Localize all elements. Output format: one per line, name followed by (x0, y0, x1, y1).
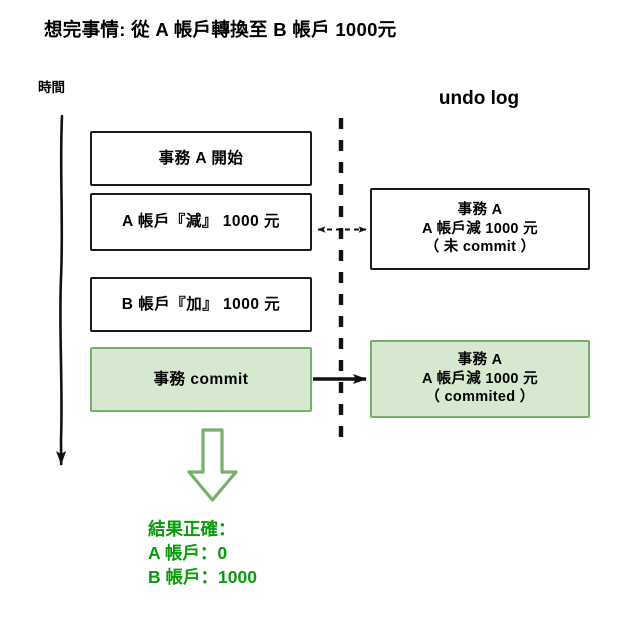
timeline-box-transaction-start: 事務 A 開始 (90, 131, 312, 186)
timeline-box-label: 事務 commit (154, 370, 249, 390)
undo-log-line-status: （ commited ） (425, 388, 534, 407)
timeline-box-account-a-debit: A 帳戶『減』 1000 元 (90, 193, 312, 251)
undo-log-line-transaction: 事務 A (458, 351, 503, 370)
timeline-box-account-b-credit: B 帳戶『加』 1000 元 (90, 277, 312, 332)
timeline-box-label: A 帳戶『減』 1000 元 (122, 212, 280, 232)
diagram-canvas: 想完事情: 從 A 帳戶轉換至 B 帳戶 1000元 時間 undo log 事… (0, 0, 641, 621)
undo-log-line-transaction: 事務 A (458, 201, 503, 220)
undo-log-box-committed: 事務 A A 帳戶減 1000 元 （ commited ） (370, 340, 590, 418)
undo-log-line-operation: A 帳戶減 1000 元 (422, 220, 538, 239)
page-title: 想完事情: 從 A 帳戶轉換至 B 帳戶 1000元 (44, 16, 397, 42)
result-line-account-a: A 帳戶：0 (148, 541, 257, 565)
undo-log-line-status: （ 未 commit ） (425, 238, 536, 257)
result-summary: 結果正確： A 帳戶：0 B 帳戶：1000 (148, 517, 257, 589)
undo-log-label: undo log (424, 88, 534, 110)
result-line-heading: 結果正確： (148, 517, 257, 541)
time-axis-label: 時間 (38, 76, 65, 96)
timeline-box-label: 事務 A 開始 (159, 149, 244, 169)
undo-log-box-uncommitted: 事務 A A 帳戶減 1000 元 （ 未 commit ） (370, 188, 590, 270)
undo-log-line-operation: A 帳戶減 1000 元 (422, 370, 538, 389)
result-block-arrow-icon (189, 430, 236, 500)
time-axis-arrow (60, 116, 62, 464)
timeline-box-label: B 帳戶『加』 1000 元 (122, 295, 281, 315)
timeline-box-commit: 事務 commit (90, 347, 312, 412)
result-line-account-b: B 帳戶：1000 (148, 565, 257, 589)
